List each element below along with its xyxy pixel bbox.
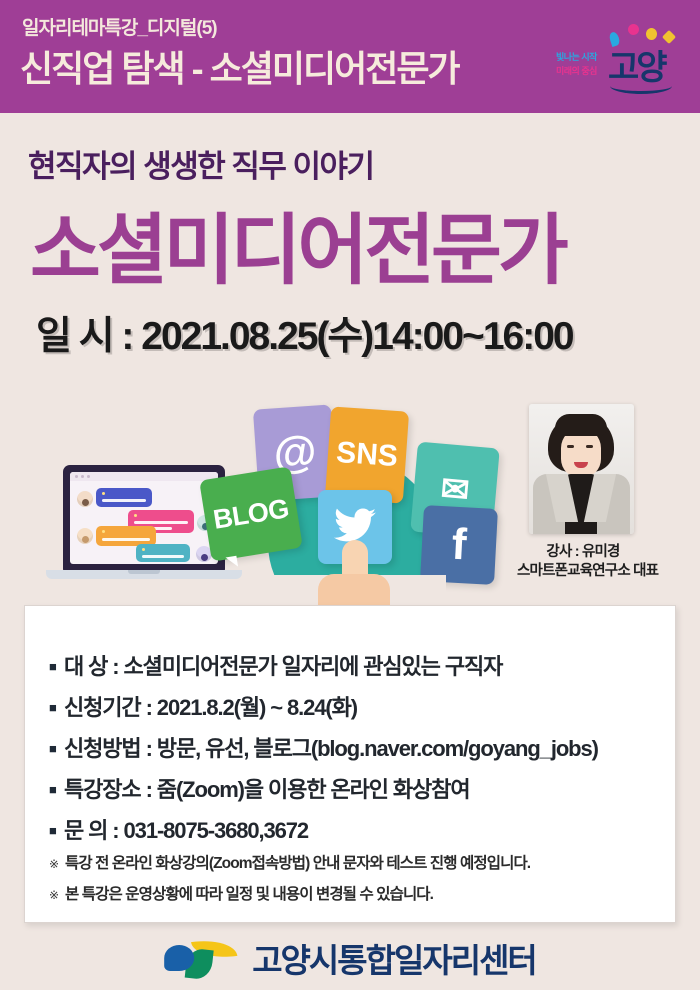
browser-dot bbox=[87, 475, 90, 478]
goyang-city-logo-icon: 빛나는 시작 미래의 중심 고양 bbox=[554, 20, 684, 98]
logo-figure-yellow bbox=[646, 28, 657, 40]
event-datetime: 일 시 : 2021.08.25(수)14:00~16:00 bbox=[36, 305, 573, 361]
browser-bar bbox=[70, 472, 218, 481]
square-bullet-icon: ■ bbox=[49, 818, 64, 844]
poster-header: 일자리테마특강_디지털(5) 신직업 탐색 - 소셜미디어전문가 빛나는 시작 … bbox=[0, 0, 700, 113]
logo-figure-pink bbox=[628, 24, 639, 35]
note-item: ※ 본 특강은 운영상황에 따라 일정 및 내용이 변경될 수 있습니다. bbox=[49, 884, 665, 906]
info-method: ■ 신청방법 : 방문, 유선, 블로그 (blog.naver.com/goy… bbox=[49, 736, 659, 762]
city-slogan-line2: 미래의 중심 bbox=[556, 64, 597, 77]
info-period: ■ 신청기간 : 2021.8.2(월) ~ 8.24(화) bbox=[49, 695, 659, 721]
browser-dot bbox=[75, 475, 78, 478]
info-contact: ■ 문 의 : 031-8075-3680,3672 bbox=[49, 818, 659, 844]
square-bullet-icon: ■ bbox=[49, 777, 64, 803]
goyang-jobs-center-logo-icon bbox=[164, 935, 242, 981]
header-kicker: 일자리테마특강_디지털(5) bbox=[22, 13, 217, 40]
bubble-line bbox=[102, 499, 146, 502]
info-place: ■ 특강장소 : 줌(Zoom)을 이용한 온라인 화상참여 bbox=[49, 777, 659, 803]
city-slogan-line1: 빛나는 시작 bbox=[556, 50, 597, 63]
reference-mark-icon: ※ bbox=[49, 884, 65, 906]
details-panel: ■ 대 상 : 소셜미디어전문가 일자리에 관심있는 구직자 ■ 신청기간 : … bbox=[24, 605, 676, 923]
star-icon bbox=[102, 492, 105, 495]
speaker-name: 강사 : 유미경 bbox=[517, 540, 649, 561]
note-item: ※ 특강 전 온라인 화상강의(Zoom접속방법) 안내 문자와 테스트 진행 … bbox=[49, 853, 665, 875]
logo-drop-blue bbox=[164, 945, 194, 971]
footer-organization-name: 고양시통합일자리센터 bbox=[252, 934, 536, 982]
poster-footer: 고양시통합일자리센터 bbox=[0, 930, 700, 990]
avatar bbox=[77, 528, 93, 544]
header-title: 신직업 탐색 - 소셜미디어전문가 bbox=[20, 40, 459, 92]
speaker-portrait bbox=[529, 404, 634, 534]
speaker-organization: 스마트폰교육연구소 대표 bbox=[517, 559, 649, 580]
note-text: 본 특강은 운영상황에 따라 일정 및 내용이 변경될 수 있습니다. bbox=[65, 884, 433, 906]
portrait-bangs bbox=[555, 414, 607, 436]
bubble-line bbox=[134, 521, 188, 524]
bubble-line bbox=[142, 555, 184, 558]
star-icon bbox=[142, 548, 145, 551]
poster-root: 일자리테마특강_디지털(5) 신직업 탐색 - 소셜미디어전문가 빛나는 시작 … bbox=[0, 0, 700, 990]
note-text: 특강 전 온라인 화상강의(Zoom접속방법) 안내 문자와 테스트 진행 예정… bbox=[65, 853, 530, 875]
portrait-eye bbox=[567, 445, 574, 448]
star-icon bbox=[102, 530, 105, 533]
laptop-notch bbox=[128, 570, 160, 574]
chat-bubble bbox=[96, 526, 156, 546]
square-bullet-icon: ■ bbox=[49, 654, 64, 680]
page-title: 소셜미디어전문가 bbox=[30, 189, 565, 300]
city-logo-smile bbox=[610, 78, 672, 94]
browser-dot bbox=[81, 475, 84, 478]
notes-list: ※ 특강 전 온라인 화상강의(Zoom접속방법) 안내 문자와 테스트 진행 … bbox=[49, 853, 665, 915]
info-period-label: 신청기간 : 2021.8.2(월) ~ 8.24(화) bbox=[64, 695, 357, 721]
card-facebook[interactable]: f bbox=[420, 505, 498, 585]
details-list: ■ 대 상 : 소셜미디어전문가 일자리에 관심있는 구직자 ■ 신청기간 : … bbox=[49, 654, 659, 859]
reference-mark-icon: ※ bbox=[49, 853, 65, 875]
laptop-screen bbox=[70, 472, 218, 564]
portrait-eye bbox=[586, 445, 593, 448]
star-icon bbox=[134, 514, 137, 517]
info-target: ■ 대 상 : 소셜미디어전문가 일자리에 관심있는 구직자 bbox=[49, 654, 659, 680]
info-contact-label: 문 의 : 031-8075-3680,3672 bbox=[64, 818, 308, 844]
square-bullet-icon: ■ bbox=[49, 695, 64, 721]
chat-bubble bbox=[136, 544, 190, 562]
info-method-label: 신청방법 : 방문, 유선, 블로그 bbox=[64, 736, 311, 762]
avatar bbox=[77, 491, 93, 507]
info-method-url[interactable]: (blog.naver.com/goyang_jobs) bbox=[311, 736, 598, 762]
bubble-line bbox=[102, 538, 150, 541]
chat-bubble bbox=[96, 488, 152, 507]
square-bullet-icon: ■ bbox=[49, 736, 64, 762]
card-blog[interactable]: BLOG bbox=[199, 466, 303, 561]
headline-subtitle: 현직자의 생생한 직무 이야기 bbox=[28, 141, 374, 186]
info-place-label: 특강장소 : 줌(Zoom)을 이용한 온라인 화상참여 bbox=[64, 777, 469, 803]
info-target-label: 대 상 : 소셜미디어전문가 일자리에 관심있는 구직자 bbox=[64, 654, 502, 680]
footer-brand: 고양시통합일자리센터 bbox=[164, 934, 536, 982]
